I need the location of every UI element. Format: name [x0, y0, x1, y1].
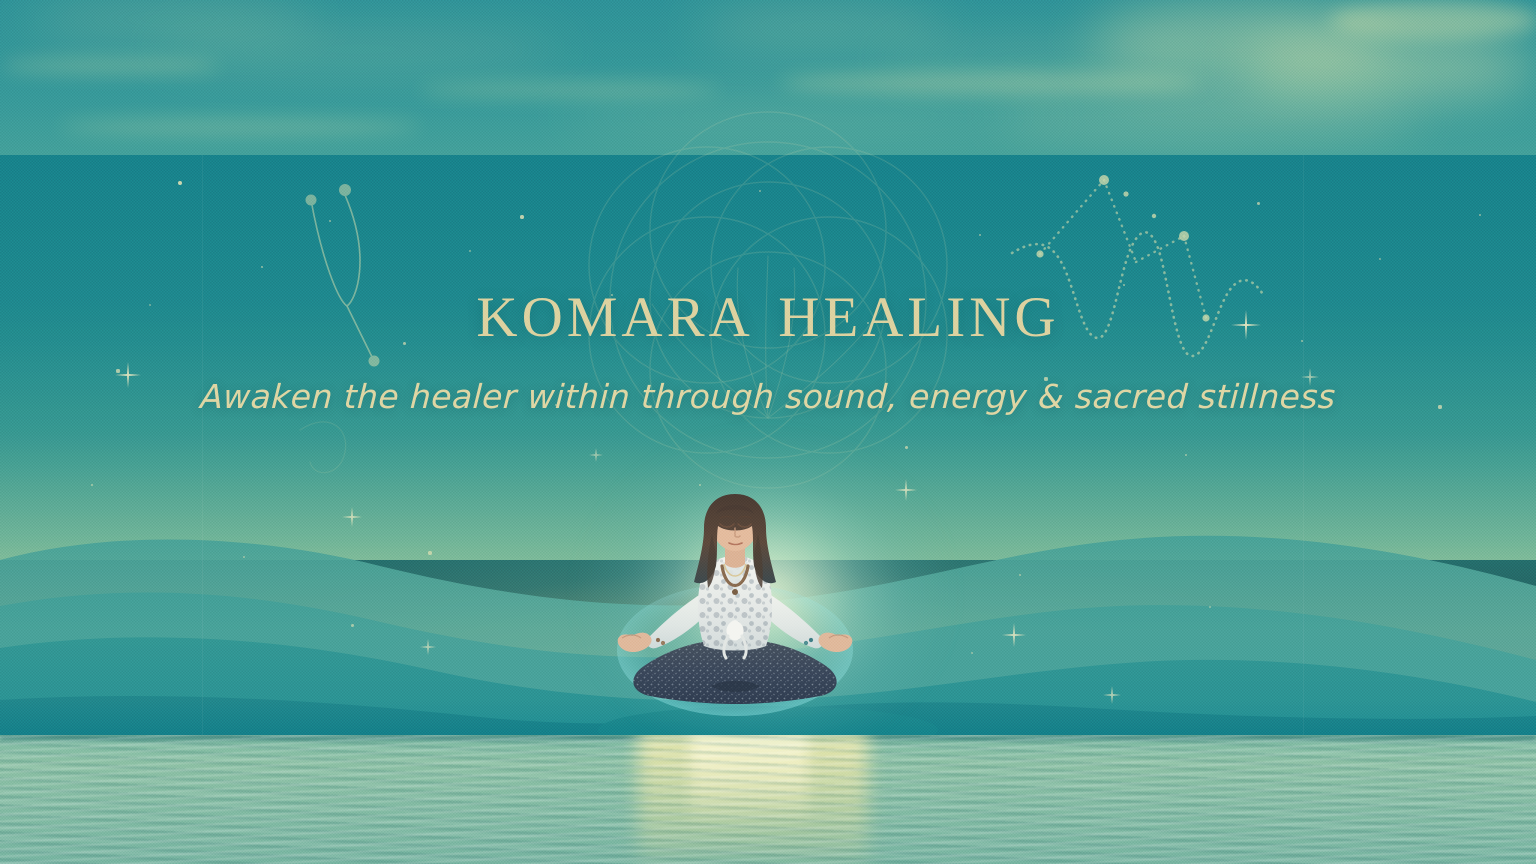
film-grain-overlay: [0, 0, 1536, 864]
komara-healing-banner: Komara Healing Awaken the healer within …: [0, 0, 1536, 864]
